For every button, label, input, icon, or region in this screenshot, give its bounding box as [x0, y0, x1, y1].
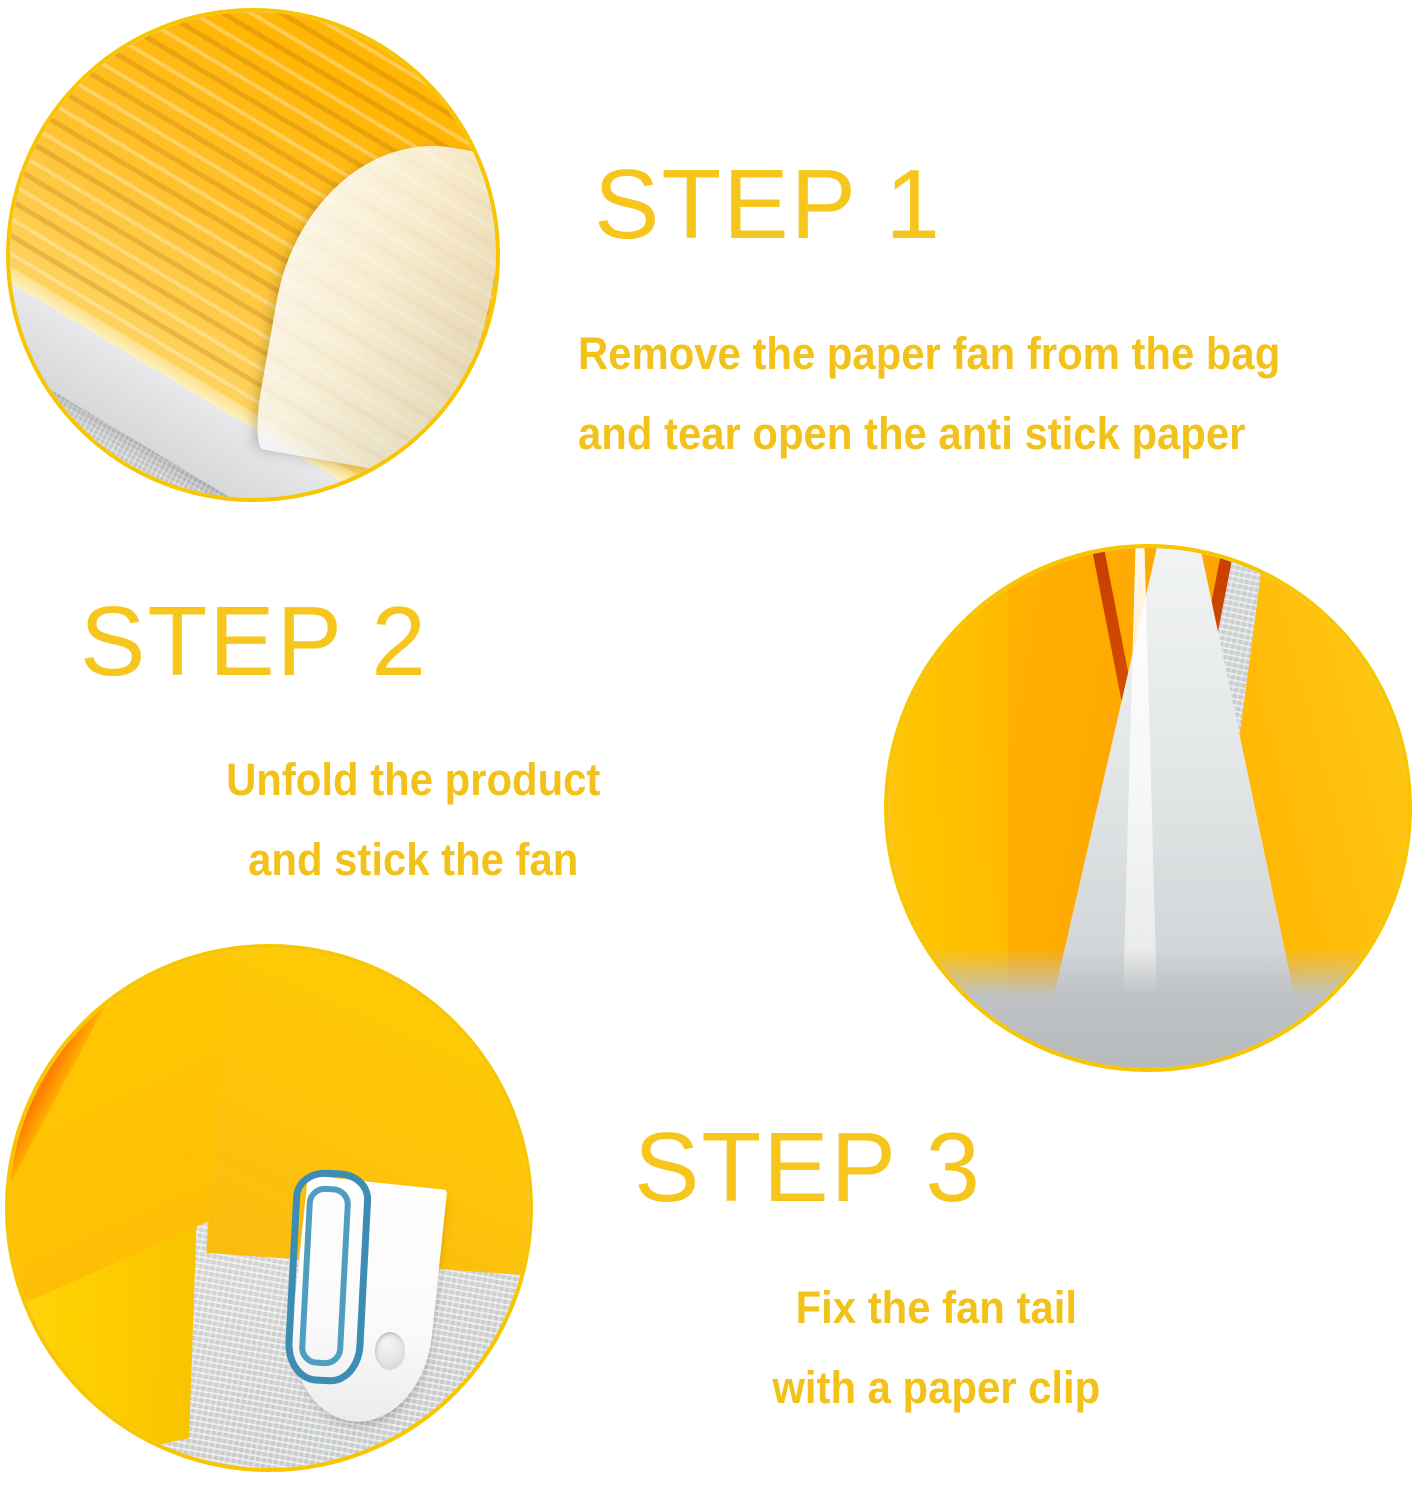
- step1-body-line-2: and tear open the anti stick paper: [578, 394, 1280, 474]
- step1-heading: STEP 1: [594, 155, 942, 253]
- step3-body-line-2: with a paper clip: [772, 1348, 1100, 1428]
- step1-body-line-1: Remove the paper fan from the bag: [578, 314, 1280, 394]
- step3-heading: STEP 3: [634, 1118, 982, 1216]
- instruction-infographic: STEP 1 Remove the paper fan from the bag…: [0, 0, 1427, 1500]
- step3-body-line-1: Fix the fan tail: [772, 1268, 1100, 1348]
- step1-photo-inner: [10, 12, 496, 498]
- step2-body-line-2: and stick the fan: [226, 820, 600, 900]
- step3-body-text: Fix the fan tail with a paper clip: [772, 1268, 1100, 1428]
- step1-body-text: Remove the paper fan from the bag and te…: [578, 314, 1280, 474]
- step2-heading: STEP 2: [80, 592, 428, 690]
- step2-body-line-1: Unfold the product: [226, 740, 600, 820]
- paper-clip-inner: [298, 1185, 351, 1367]
- step2-photo-inner: [9, 948, 529, 1468]
- step2-photo-circle: [5, 944, 533, 1472]
- step3-photo-circle: [884, 544, 1412, 1072]
- step2-body-text: Unfold the product and stick the fan: [226, 740, 600, 900]
- step1-photo-circle: [6, 8, 500, 502]
- backing-foreground: [888, 948, 1408, 1068]
- step3-photo-inner: [888, 548, 1408, 1068]
- fan-tail-tab-hole: [375, 1332, 405, 1370]
